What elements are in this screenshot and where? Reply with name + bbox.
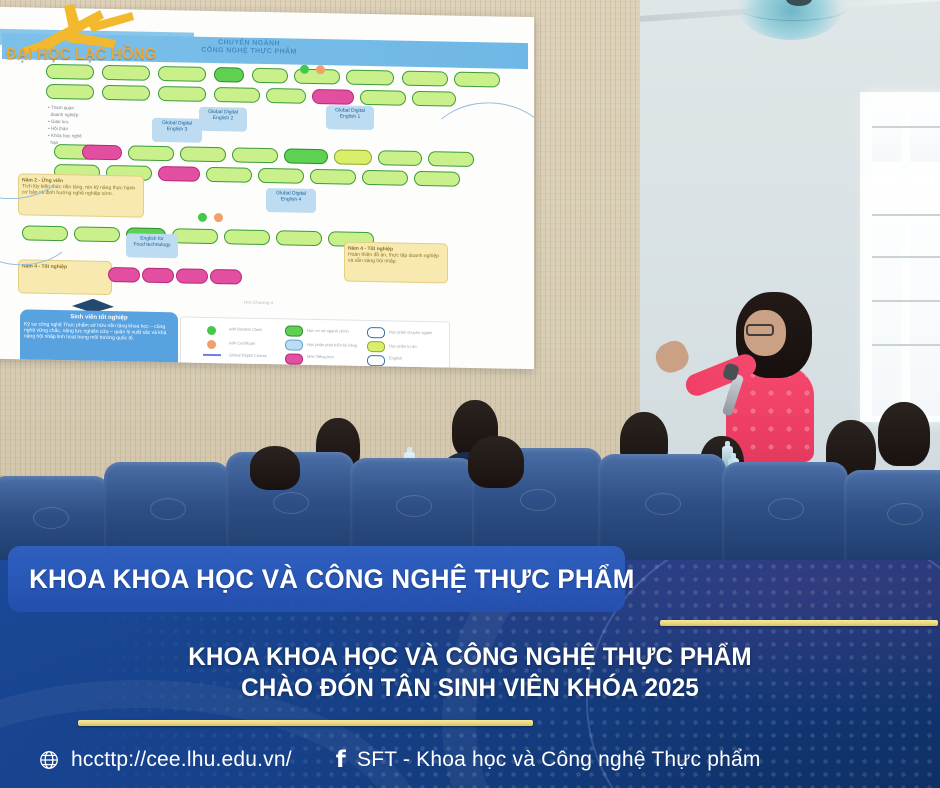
legend-label: Học phần chuyên ngành: [389, 329, 432, 335]
website-item[interactable]: hccttp://cee.lhu.edu.vn/: [38, 748, 292, 772]
chair-row: [0, 452, 940, 560]
legend-green-pill: [285, 325, 303, 336]
window-upper-2: [910, 100, 940, 162]
website-url: hccttp://cee.lhu.edu.vn/: [71, 748, 292, 772]
year-4-left-box: Năm 4 - Tốt nghiệp: [18, 259, 112, 295]
legend-green-dot: [207, 326, 216, 335]
slide-axis-label: Học Chương 4: [244, 300, 273, 306]
audience-head: [250, 446, 300, 490]
english-note-4: Global DigitalEnglish 4: [266, 188, 316, 213]
window-upper: [872, 100, 902, 162]
legend-label: with Certificate: [229, 340, 255, 346]
year-4-box: Năm 4 - Tốt nghiệpHoàn thiện đồ án, thực…: [344, 242, 448, 284]
audience-head: [468, 436, 524, 488]
english-food-note: English forFood technology: [126, 233, 178, 258]
english-note-2: Global DigitalEnglish 2: [199, 107, 247, 132]
legend-pink-pill: [285, 353, 303, 364]
legend-label: Global Digital Course: [229, 352, 267, 358]
legend-outline-pill: [367, 355, 385, 366]
facebook-f-icon: f: [336, 749, 346, 772]
english-note-3: Global DigitalEnglish 3: [152, 118, 202, 143]
university-logo: ĐẠI HỌC LẠC HỒNG: [4, 2, 172, 70]
booster-dot: [198, 213, 207, 222]
facebook-item[interactable]: f SFT - Khoa học và Công nghệ Thực phẩm: [336, 748, 761, 772]
department-banner-label: KHOA KHOA HỌC VÀ CÔNG NGHỆ THỰC PHẨM: [8, 564, 635, 595]
path-curve-2: [424, 101, 534, 210]
legend-label: Học cơ sở ngành chính: [307, 328, 349, 334]
presenter-glasses: [746, 324, 774, 336]
gold-accent-line-right: [660, 620, 938, 626]
university-logo-text: ĐẠI HỌC LẠC HỒNG: [6, 46, 157, 64]
code-pill-109015: [108, 267, 140, 283]
window-mullion: [872, 214, 940, 216]
slide-legend: with Booster Class with Certificate Glob…: [180, 316, 450, 369]
auditorium-chair: [350, 458, 476, 560]
code-pill-109017: [176, 268, 208, 284]
window-mullion: [872, 126, 940, 128]
window-mullion: [872, 344, 940, 346]
window-mullion: [872, 256, 940, 258]
headline-line-2: CHÀO ĐÓN TÂN SINH VIÊN KHÓA 2025: [14, 672, 926, 704]
booster-dot: [300, 65, 309, 74]
legend-blue-pill: [285, 339, 303, 350]
legend-label: Học phần tự do: [389, 343, 417, 349]
code-pill-109016: [142, 268, 174, 284]
window-lower: [872, 172, 902, 416]
department-banner: KHOA KHOA HỌC VÀ CÔNG NGHỆ THỰC PHẨM: [8, 546, 625, 612]
legend-label: with Booster Class: [229, 326, 262, 332]
gold-accent-line-left: [78, 720, 533, 726]
legend-orange-dot: [207, 340, 216, 349]
english-course-pill: [312, 89, 354, 105]
auditorium-chair: [722, 462, 848, 560]
certificate-dot: [214, 213, 223, 222]
slide-title: CHUYÊN NGÀNH CÔNG NGHỆ THỰC PHẨM: [174, 38, 324, 57]
certificate-dot: [316, 65, 325, 74]
window-mullion: [872, 300, 940, 302]
english-note-1: Global DigitalEnglish 1: [326, 105, 374, 130]
legend-arrow-icon: [203, 354, 221, 356]
facebook-page-name: SFT - Khoa học và Công nghệ Thực phẩm: [357, 748, 761, 772]
window-lower-2: [910, 172, 940, 416]
legend-label: Môn Tiếng Anh: [307, 354, 334, 360]
legend-olive-pill: [367, 341, 385, 352]
event-photo: CHUYÊN NGÀNH CÔNG NGHỆ THỰC PHẨM: [0, 0, 940, 560]
code-pill-109018: [210, 269, 242, 285]
poster-headline: KHOA KHOA HỌC VÀ CÔNG NGHỆ THỰC PHẨM CHÀ…: [0, 642, 940, 704]
globe-icon: [38, 749, 60, 771]
auditorium-chair: [844, 470, 940, 560]
legend-label: Học phần phát triển kỹ năng: [307, 342, 357, 348]
poster-root: CHUYÊN NGÀNH CÔNG NGHỆ THỰC PHẨM: [0, 0, 940, 788]
legend-white-pill: [367, 327, 385, 338]
legend-label: English: [389, 355, 402, 360]
headline-line-1: KHOA KHOA HỌC VÀ CÔNG NGHỆ THỰC PHẨM: [14, 642, 926, 672]
auditorium-chair: [598, 454, 726, 560]
contact-row: hccttp://cee.lhu.edu.vn/ f SFT - Khoa họ…: [38, 748, 761, 772]
